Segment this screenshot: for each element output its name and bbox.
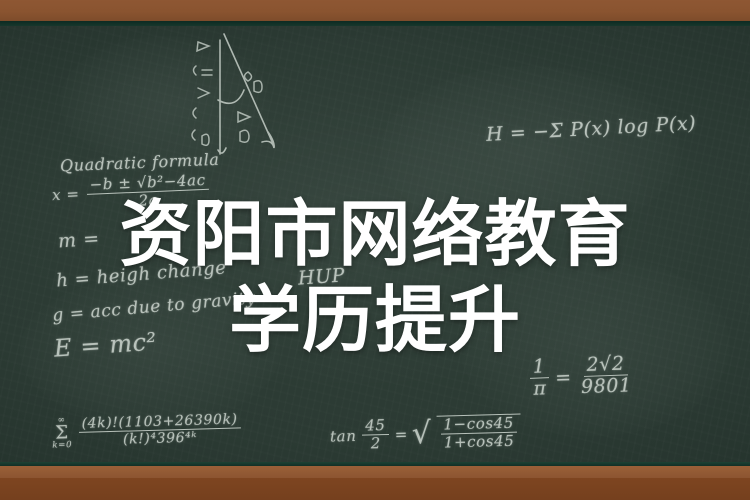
wooden-frame-bottom: [0, 478, 750, 500]
chalk-tray-ledge: [0, 466, 750, 478]
half-angle-den: 2: [368, 435, 385, 452]
summation-symbol: ∞ Σ k=0: [52, 416, 73, 450]
chalkboard-surface: H = −Σ P(x) log P(x) Quadratic formula x…: [0, 26, 750, 462]
sigma-glyph: Σ: [55, 425, 69, 442]
equals-sign: =: [555, 366, 572, 389]
chalk-half-angle-formula: tan 45 2 = √ 1−cos45 1+cos45: [330, 414, 522, 455]
chalk-pi-ramanujan-short: 1 π = 2√2 9801: [527, 354, 637, 400]
tan-label: tan: [330, 427, 357, 446]
half-angle-num: 45: [362, 418, 389, 436]
chalk-pi-ramanujan-series: ∞ Σ k=0 (4k)!(1103+26390k) (k!)⁴396⁴ᵏ: [52, 411, 244, 450]
pi-short-numerator: 2√2: [583, 354, 628, 377]
page-title-line-2: 学历提升: [0, 284, 750, 356]
sum-lower-bound: k=0: [52, 441, 72, 450]
series-numerator: (4k)!(1103+26390k): [78, 413, 240, 434]
pi-short-denominator: 9801: [578, 376, 635, 398]
equals-sign: =: [395, 425, 409, 443]
series-denominator: (k!)⁴396⁴ᵏ: [120, 430, 200, 447]
chalkboard-banner: H = −Σ P(x) log P(x) Quadratic formula x…: [0, 0, 750, 500]
radical-sign: √: [412, 423, 432, 445]
half-angle-rad-num: 1−cos45: [440, 416, 517, 435]
sum-upper-bound: ∞: [58, 416, 66, 425]
wooden-frame-top: [0, 0, 750, 21]
half-angle-rad-den: 1+cos45: [441, 433, 518, 451]
triangle-diagram: [178, 26, 298, 166]
pi-short-lead-den: π: [530, 379, 550, 400]
page-title-line-1: 资阳市网络教育: [0, 198, 750, 270]
chalk-entropy-formula: H = −Σ P(x) log P(x): [486, 112, 697, 146]
pi-short-lead-num: 1: [529, 357, 548, 379]
